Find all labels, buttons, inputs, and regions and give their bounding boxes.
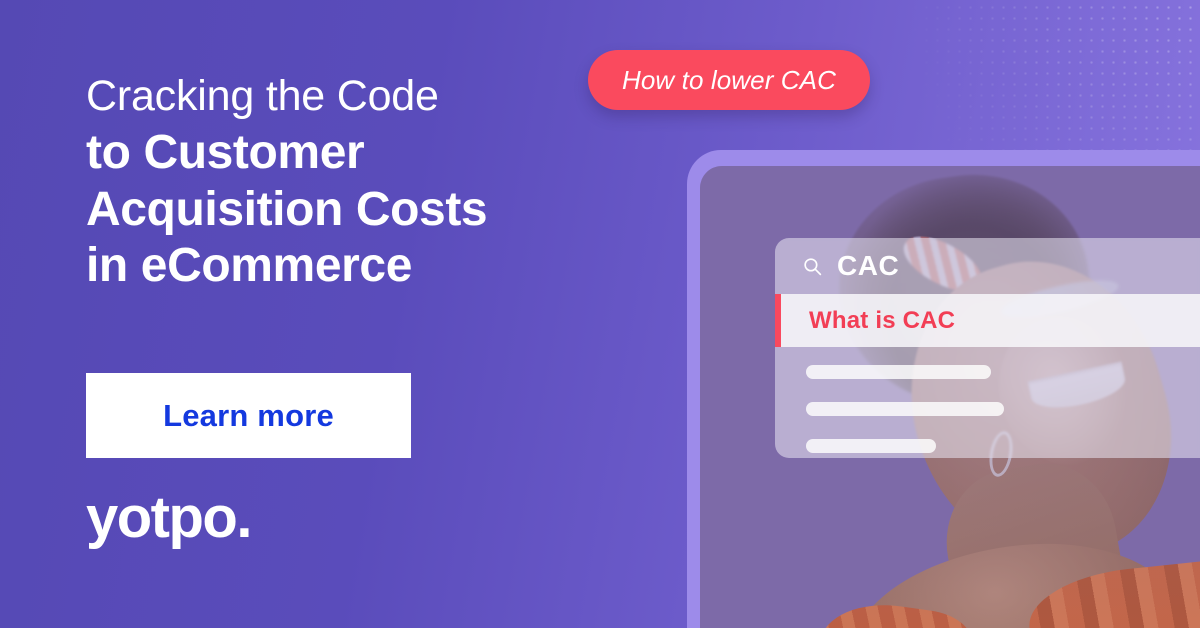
skeleton-row: [806, 402, 1004, 416]
headline: Cracking the Code to Customer Acquisitio…: [86, 72, 487, 294]
headline-line-4: in eCommerce: [86, 238, 487, 294]
headline-line-1: Cracking the Code: [86, 72, 487, 121]
search-bar[interactable]: CAC: [775, 238, 1200, 294]
headline-line-3: Acquisition Costs: [86, 182, 487, 238]
badge-label: How to lower CAC: [622, 65, 836, 96]
learn-more-button[interactable]: Learn more: [86, 373, 411, 458]
headline-line-2: to Customer: [86, 125, 487, 181]
skeleton-row: [806, 439, 936, 453]
marketing-banner: CAC What is CAC How to lower CAC Crackin…: [0, 0, 1200, 628]
skeleton-placeholder-list: [806, 365, 1200, 476]
skeleton-row: [806, 365, 991, 379]
yotpo-logo: yotpo.: [86, 489, 251, 547]
headline-bold-block: to Customer Acquisition Costs in eCommer…: [86, 125, 487, 293]
how-to-lower-cac-badge[interactable]: How to lower CAC: [588, 50, 870, 110]
learn-more-label: Learn more: [163, 398, 334, 434]
result-accent-bar: [775, 294, 781, 347]
result-title: What is CAC: [809, 307, 955, 335]
search-icon: [802, 256, 823, 277]
search-query-text: CAC: [837, 252, 899, 280]
search-result-row[interactable]: What is CAC: [775, 294, 1200, 347]
search-card: CAC What is CAC: [775, 238, 1200, 458]
